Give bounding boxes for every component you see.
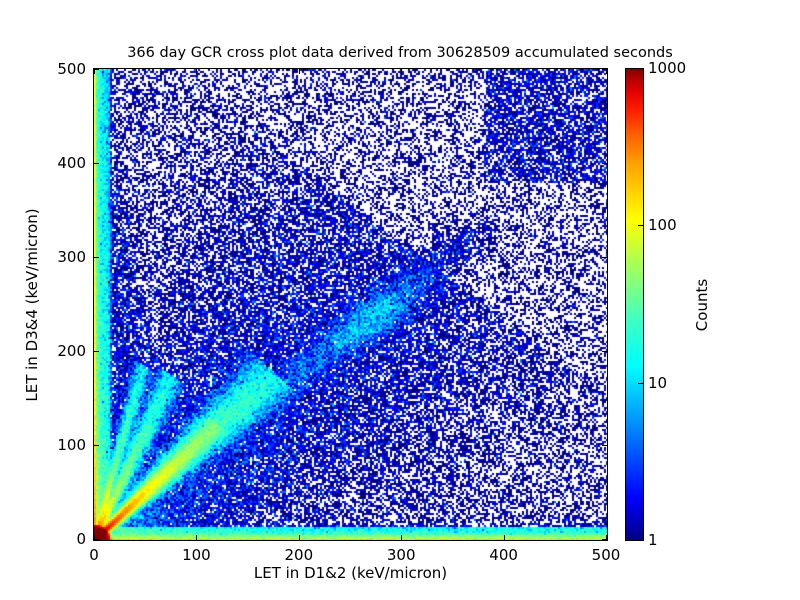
y-tick-right — [602, 351, 607, 352]
x-tick-label: 200 — [284, 546, 313, 564]
x-tick-label: 300 — [387, 546, 416, 564]
colorbar-tick — [638, 225, 643, 226]
y-tick-left — [94, 69, 99, 70]
y-tick-label: 0 — [40, 530, 86, 548]
colorbar-tick-label: 1 — [648, 531, 658, 549]
y-tick-right — [602, 539, 607, 540]
y-tick-left — [94, 539, 99, 540]
colorbar-container[interactable] — [625, 68, 644, 541]
cross-plot-density-canvas — [94, 69, 607, 540]
y-tick-left — [94, 257, 99, 258]
y-tick-right — [602, 445, 607, 446]
x-tick-bottom — [401, 535, 402, 540]
y-tick-left — [94, 163, 99, 164]
x-tick-top — [299, 69, 300, 74]
scatter-plot-area[interactable] — [93, 68, 608, 541]
colorbar-tick — [638, 383, 643, 384]
y-tick-left — [94, 351, 99, 352]
y-tick-label: 500 — [40, 60, 86, 78]
x-tick-label: 100 — [182, 546, 211, 564]
x-tick-top — [401, 69, 402, 74]
x-tick-label: 400 — [489, 546, 518, 564]
figure-canvas: 366 day GCR cross plot data derived from… — [0, 0, 800, 600]
y-tick-label: 200 — [40, 342, 86, 360]
y-tick-right — [602, 257, 607, 258]
y-tick-left — [94, 445, 99, 446]
y-tick-label: 300 — [40, 248, 86, 266]
x-tick-label: 500 — [592, 546, 621, 564]
y-tick-label: 400 — [40, 154, 86, 172]
colorbar-tick-label: 1000 — [648, 59, 686, 77]
colorbar-tick-label: 100 — [648, 216, 677, 234]
x-tick-bottom — [196, 535, 197, 540]
y-tick-label: 100 — [40, 436, 86, 454]
x-axis-title: LET in D1&2 (keV/micron) — [93, 564, 608, 582]
y-axis-title-container: LET in D3&4 (keV/micron) — [22, 68, 42, 541]
x-tick-bottom — [299, 535, 300, 540]
y-tick-right — [602, 69, 607, 70]
x-tick-label: 0 — [89, 546, 99, 564]
y-axis-title: LET in D3&4 (keV/micron) — [23, 208, 41, 401]
colorbar-tick-label: 10 — [648, 374, 667, 392]
x-tick-top — [504, 69, 505, 74]
colorbar-title-container: Counts — [692, 68, 712, 541]
y-tick-right — [602, 163, 607, 164]
colorbar-title: Counts — [693, 278, 711, 330]
colorbar-gradient — [625, 68, 644, 541]
x-tick-top — [196, 69, 197, 74]
x-tick-bottom — [504, 535, 505, 540]
